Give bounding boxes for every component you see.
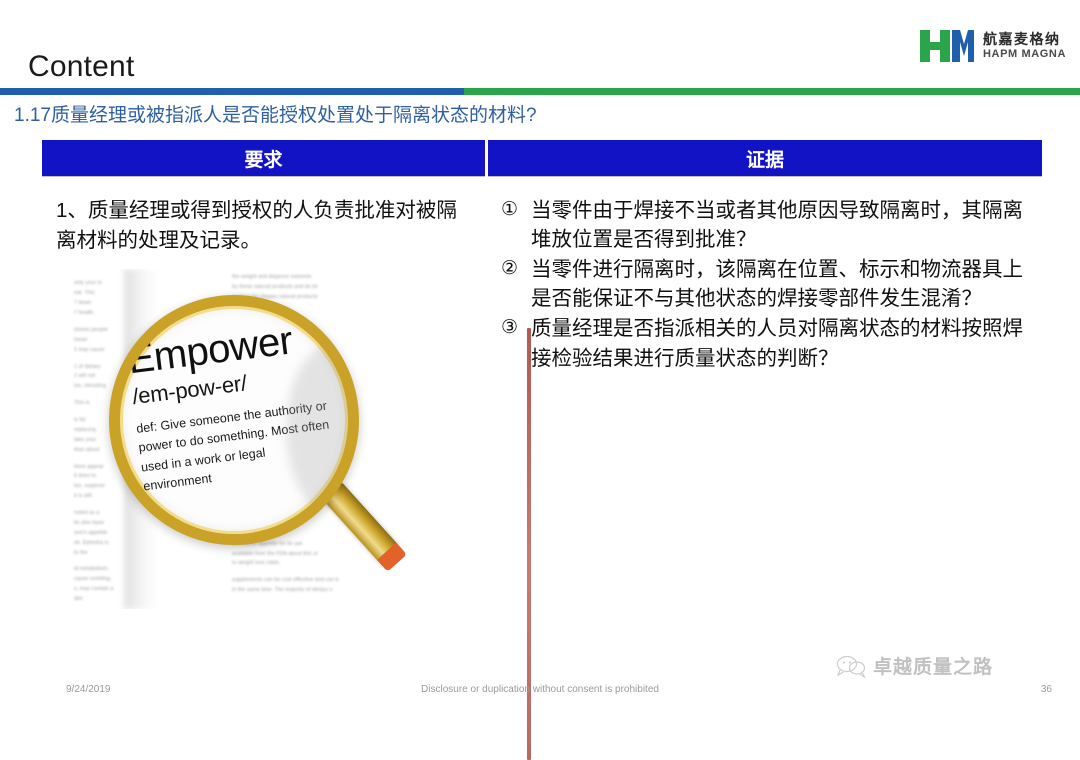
footer-notice: Disclosure or duplication without consen… <box>0 684 1080 695</box>
header-divider-blue <box>0 88 464 95</box>
evidence-column: ① 当零件由于焊接不当或者其他原因导致隔离时，其隔离堆放位置是否得到批准？ ② … <box>485 196 1042 609</box>
lens-content: Empower /em-pow-er/ def: Give someone th… <box>109 295 359 545</box>
evidence-item: ① 当零件由于焊接不当或者其他原因导致隔离时，其隔离堆放位置是否得到批准？ <box>501 196 1042 254</box>
evidence-item-text: 当零件进行隔离时，该隔离在位置、标示和物流器具上是否能保证不与其他状态的焊接零部… <box>531 255 1042 313</box>
empower-dictionary-image: only your toeat. This7 down7 health. sto… <box>64 269 418 609</box>
requirement-text: 1、质量经理或得到授权的人负责批准对被隔离材料的处理及记录。 <box>42 196 485 255</box>
watermark-text: 卓越质量之路 <box>873 652 993 679</box>
brand-name-cn: 航嘉麦格纳 <box>983 32 1066 47</box>
dictionary-definition: def: Give someone the authority or power… <box>135 397 339 498</box>
evidence-item-text: 质量经理是否指派相关的人员对隔离状态的材料按照焊接检验结果进行质量状态的判断？ <box>531 314 1042 372</box>
column-header-requirement: 要求 <box>42 140 485 176</box>
brand-name-en: HAPM MAGNA <box>983 49 1066 61</box>
table-header-row: 要求 证据 <box>42 140 1042 176</box>
requirement-column: 1、质量经理或得到授权的人负责批准对被隔离材料的处理及记录。 only your… <box>42 196 485 609</box>
evidence-item-number: ② <box>501 255 531 313</box>
page-title: Content <box>28 52 134 82</box>
evidence-item-text: 当零件由于焊接不当或者其他原因导致隔离时，其隔离堆放位置是否得到批准？ <box>531 196 1042 254</box>
header-divider-bar <box>0 88 1080 95</box>
wechat-watermark: 卓越质量之路 <box>836 652 993 679</box>
evidence-item: ② 当零件进行隔离时，该隔离在位置、标示和物流器具上是否能保证不与其他状态的焊接… <box>501 255 1042 313</box>
table-body: 1、质量经理或得到授权的人负责批准对被隔离材料的处理及记录。 only your… <box>42 196 1042 609</box>
hm-logo-icon <box>918 28 974 64</box>
header-divider-green <box>464 88 1080 95</box>
brand-logo-words: 航嘉麦格纳 HAPM MAGNA <box>983 32 1066 60</box>
evidence-item-number: ① <box>501 196 531 254</box>
footer-page-number: 36 <box>1041 684 1052 695</box>
requirement-evidence-table: 要求 证据 1、质量经理或得到授权的人负责批准对被隔离材料的处理及记录。 onl… <box>42 140 1042 609</box>
question-heading: 1.17质量经理或被指派人是否能授权处置处于隔离状态的材料? <box>14 104 537 129</box>
slide-footer: 9/24/2019 Disclosure or duplication with… <box>0 684 1080 704</box>
evidence-item: ③ 质量经理是否指派相关的人员对隔离状态的材料按照焊接检验结果进行质量状态的判断… <box>501 314 1042 372</box>
wechat-icon <box>836 654 866 678</box>
column-header-evidence: 证据 <box>488 140 1042 176</box>
magnifier-lens: Empower /em-pow-er/ def: Give someone th… <box>109 295 359 545</box>
brand-logo: 航嘉麦格纳 HAPM MAGNA <box>918 28 1066 64</box>
